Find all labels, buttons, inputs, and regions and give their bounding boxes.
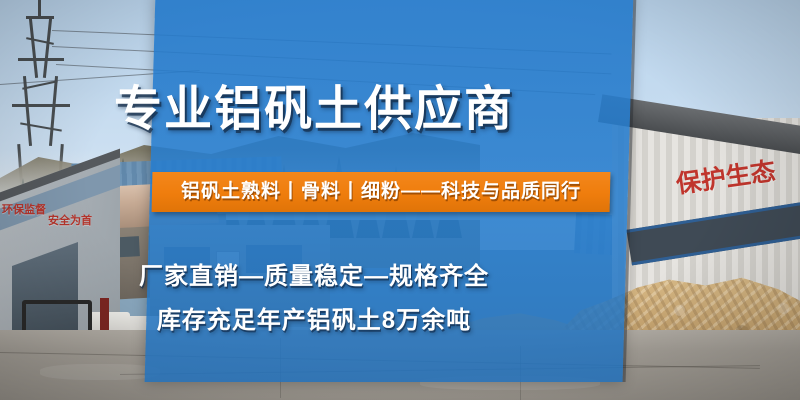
banner-image: 环保监督 安全为首 保护生态 — [0, 0, 800, 400]
tagline-bar: 铝矾土熟料丨骨料丨细粉——科技与品质同行 — [152, 172, 611, 212]
banner-subline-2: 库存充足年产铝矾土8万余吨 — [0, 306, 800, 336]
banner-subline-1: 厂家直销—质量稳定—规格齐全 — [0, 262, 800, 292]
banner-headline: 专业铝矾土供应商 — [0, 82, 800, 138]
banner-content: 专业铝矾土供应商 铝矾土熟料丨骨料丨细粉——科技与品质同行 厂家直销—质量稳定—… — [0, 0, 800, 400]
tagline-text: 铝矾土熟料丨骨料丨细粉——科技与品质同行 — [152, 172, 610, 212]
